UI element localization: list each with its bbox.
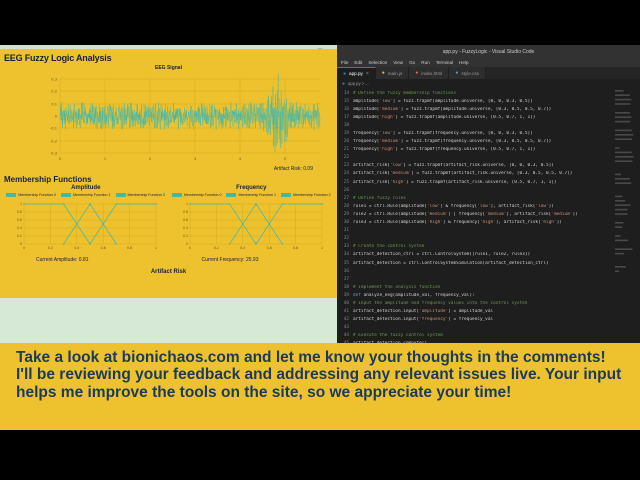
vscode-title: app.py - FuzzyLogic - Visual Studio Code [443,49,535,55]
line-text: # Define the fuzzy membership functions [353,91,456,96]
code-editor[interactable]: 14# Define the fuzzy membership function… [337,88,640,343]
legend-label: Membership Function 2 [293,193,331,197]
artifact-risk-value: Artifact Risk: 0.09 [0,166,337,172]
line-number: 42 [337,317,353,322]
line-number: 23 [337,163,353,168]
css-file-icon: ● [455,70,458,76]
editor-tab-index-html[interactable]: ● index.html [409,67,449,79]
code-line: 27# Define fuzzy rules [337,194,640,202]
legend-item-mf0[interactable]: Membership Function 0 [172,193,222,197]
svg-text:2: 2 [149,157,151,161]
svg-text:0.4: 0.4 [74,246,79,250]
svg-text:3: 3 [194,157,196,161]
line-number: 25 [337,180,353,185]
line-text: # Create the control system [353,244,424,249]
legend-swatch [6,193,16,197]
editor-tab-style-css[interactable]: ● style.css [449,67,486,79]
code-line: 38# Implement the analysis function [337,283,640,291]
menu-file[interactable]: File [341,60,348,65]
menu-view[interactable]: View [393,60,403,65]
svg-text:0.6: 0.6 [182,218,187,222]
svg-text:1: 1 [104,157,106,161]
line-text: frequency['medium'] = fuzz.trapmf(freque… [353,139,551,144]
line-number: 21 [337,147,353,152]
line-number: 17 [337,115,353,120]
line-number: 30 [337,220,353,225]
legend-item-mf1[interactable]: Membership Function 1 [61,193,111,197]
close-icon[interactable]: × [366,71,369,77]
svg-text:0.8: 0.8 [293,246,298,250]
code-line: 16amplitude['medium'] = fuzz.trapmf(ampl… [337,105,640,113]
code-line: 29rule2 = ctrl.Rule(amplitude['medium'] … [337,210,640,218]
amplitude-chart-svg: 00.20.40.60.8100.20.40.60.81 [6,198,161,256]
line-number: 36 [337,269,353,274]
code-line: 26 [337,186,640,194]
line-number: 26 [337,188,353,193]
code-line: 17amplitude['high'] = fuzz.trapmf(amplit… [337,113,640,121]
line-number: 33 [337,244,353,249]
svg-text:1: 1 [320,246,322,250]
menu-go[interactable]: Go [409,60,415,65]
code-line: 37 [337,275,640,283]
line-text: # Execute the fuzzy control system [353,333,443,338]
frequency-legend: Membership Function 0 Membership Functio… [172,193,332,197]
frequency-chart-svg: 00.20.40.60.8100.20.40.60.81 [172,198,327,256]
legend-swatch [172,193,182,197]
svg-text:0.8: 0.8 [17,210,22,214]
amplitude-legend: Membership Function 0 Membership Functio… [6,193,166,197]
legend-item-mf2[interactable]: Membership Function 2 [116,193,166,197]
line-number: 44 [337,333,353,338]
eeg-chart-svg: 0.30.2 0.10 -0.1-0.2 -0.3 012 345 [0,71,337,165]
current-amplitude-value: Current Amplitude: 0.81 [6,257,166,263]
line-number: 22 [337,155,353,160]
editor-minimap[interactable] [614,90,638,340]
vscode-titlebar: app.py - FuzzyLogic - Visual Studio Code [337,45,640,58]
line-number: 24 [337,171,353,176]
menu-run[interactable]: Run [421,60,429,65]
svg-text:-0.3: -0.3 [50,152,57,156]
svg-text:1: 1 [155,246,157,250]
svg-text:0.8: 0.8 [127,246,132,250]
code-line: 44 # Execute the fuzzy control system [337,332,640,340]
line-number: 32 [337,236,353,241]
code-line: 43 [337,324,640,332]
svg-text:4: 4 [239,157,242,161]
line-text: artifact_detection.input['amplitude'] = … [353,309,493,314]
svg-text:-0.1: -0.1 [50,127,57,131]
line-number: 41 [337,309,353,314]
svg-text:1: 1 [20,202,22,206]
vscode-menubar: File Edit Selection View Go Run Terminal… [337,58,640,67]
line-number: 29 [337,212,353,217]
artifact-risk-heading: Artifact Risk [0,269,337,275]
line-text: amplitude['low'] = fuzz.trapmf(amplitude… [353,99,533,104]
editor-tab-label: main.js [388,71,403,76]
editor-tab-label: app.py [349,71,363,76]
svg-text:0.1: 0.1 [51,103,57,107]
legend-item-mf0[interactable]: Membership Function 0 [6,193,56,197]
letterbox-bottom [0,430,640,480]
line-number: 39 [337,293,353,298]
menu-edit[interactable]: Edit [354,60,362,65]
line-number: 34 [337,252,353,257]
svg-text:0: 0 [20,242,22,246]
legend-swatch [61,193,71,197]
line-number: 28 [337,204,353,209]
svg-text:0.2: 0.2 [48,246,53,250]
svg-text:0.6: 0.6 [101,246,106,250]
legend-label: Membership Function 0 [184,193,222,197]
svg-text:0.2: 0.2 [17,234,22,238]
python-file-icon: ● [343,71,346,77]
line-number: 16 [337,107,353,112]
line-text: artifact_risk['high'] = fuzz.trapmf(arti… [353,180,557,185]
svg-text:0.8: 0.8 [182,210,187,214]
code-line: 30rule3 = ctrl.Rule(amplitude['high'] & … [337,219,640,227]
line-number: 43 [337,325,353,330]
code-line: 14# Define the fuzzy membership function… [337,89,640,97]
svg-text:0.4: 0.4 [17,226,22,230]
svg-text:0.4: 0.4 [240,246,245,250]
legend-item-mf2[interactable]: Membership Function 2 [281,193,331,197]
code-line: 33# Create the control system [337,243,640,251]
frequency-chart: Frequency Membership Function 0 Membersh… [172,185,332,263]
vscode-editor-tabs: ● app.py × ● main.js ● index.html ● styl… [337,67,640,79]
svg-text:-0.2: -0.2 [50,140,57,144]
current-frequency-value: Current Frequency: 25.93 [172,257,332,263]
menu-selection[interactable]: Selection [368,60,387,65]
legend-label: Membership Function 2 [128,193,166,197]
line-number: 31 [337,228,353,233]
line-text: amplitude['medium'] = fuzz.trapmf(amplit… [353,107,551,112]
line-number: 27 [337,196,353,201]
code-line: 22 [337,154,640,162]
caption-text: Take a look at bionichaos.com and let me… [16,349,626,401]
code-line: 18 [337,121,640,129]
amplitude-chart-title: Amplitude [6,185,166,191]
letterbox-top [0,0,640,45]
svg-text:0.2: 0.2 [182,234,187,238]
editor-tab-label: index.html [421,71,442,76]
legend-label: Membership Function 1 [73,193,111,197]
page-title: EEG Fuzzy Logic Analysis [0,49,337,65]
line-number: 35 [337,261,353,266]
menu-help[interactable]: Help [459,60,468,65]
caption-banner: Take a look at bionichaos.com and let me… [0,343,640,430]
python-file-icon: ● [342,81,345,87]
eeg-signal-chart: EEG Signal [0,65,337,172]
code-line: 40 # Input the amplitude and frequency v… [337,299,640,307]
html-file-icon: ● [415,70,418,76]
svg-text:0.4: 0.4 [182,226,187,230]
svg-text:0.6: 0.6 [266,246,271,250]
line-number: 14 [337,91,353,96]
code-line: 31 [337,227,640,235]
code-line: 28rule1 = ctrl.Rule(amplitude['low'] & f… [337,202,640,210]
line-number: 15 [337,99,353,104]
breadcrumb-text: app.py > ... [348,81,369,86]
code-line: 34artifact_detection_ctrl = ctrl.Control… [337,251,640,259]
screen-root: ← Bionichaos × EEG Fuzzy Analysi ♪ × Fuz… [0,0,640,480]
code-line: 19frequency['low'] = fuzz.trapmf(frequen… [337,129,640,137]
line-text: artifact_risk['medium'] = fuzz.trapmf(ar… [353,171,572,176]
line-text: frequency['high'] = fuzz.trapmf(frequenc… [353,147,535,152]
code-line: 21frequency['high'] = fuzz.trapmf(freque… [337,146,640,154]
code-lines: 14# Define the fuzzy membership function… [337,89,640,343]
line-text: # Input the amplitude and frequency valu… [353,301,527,306]
membership-functions-title: Membership Functions [0,172,337,185]
code-line: 24artifact_risk['medium'] = fuzz.trapmf(… [337,170,640,178]
code-line: 35artifact_detection = ctrl.ControlSyste… [337,259,640,267]
breadcrumb[interactable]: ● app.py > ... [337,79,640,88]
svg-text:0.3: 0.3 [51,78,57,82]
line-number: 38 [337,285,353,290]
svg-text:0: 0 [55,115,58,119]
line-text: frequency['low'] = fuzz.trapmf(frequency… [353,131,533,136]
code-line: 41 artifact_detection.input['amplitude']… [337,308,640,316]
svg-text:5: 5 [284,157,286,161]
line-number: 40 [337,301,353,306]
legend-label: Membership Function 0 [18,193,56,197]
line-number: 18 [337,123,353,128]
line-text: artifact_detection = ctrl.ControlSystemS… [353,261,549,266]
line-text: # Define fuzzy rules [353,196,406,201]
svg-text:0: 0 [59,157,62,161]
line-text: rule3 = ctrl.Rule(amplitude['high'] & fr… [353,220,562,225]
editor-tab-app-py[interactable]: ● app.py × [337,67,376,79]
editor-tab-label: style.css [461,71,479,76]
legend-label: Membership Function 1 [238,193,276,197]
line-text: # Implement the analysis function [353,285,440,290]
line-number: 19 [337,131,353,136]
web-page-content: EEG Fuzzy Logic Analysis EEG Signal [0,49,337,298]
line-text: rule1 = ctrl.Rule(amplitude['low'] & fre… [353,204,554,209]
line-number: 20 [337,139,353,144]
line-text: artifact_risk['low'] = fuzz.trapmf(artif… [353,163,554,168]
legend-swatch [226,193,236,197]
code-line: 25artifact_risk['high'] = fuzz.trapmf(ar… [337,178,640,186]
frequency-chart-title: Frequency [172,185,332,191]
line-text: artifact_detection.input['frequency'] = … [353,317,493,322]
code-line: 15amplitude['low'] = fuzz.trapmf(amplitu… [337,97,640,105]
code-line: 20frequency['medium'] = fuzz.trapmf(freq… [337,138,640,146]
code-line: 23artifact_risk['low'] = fuzz.trapmf(art… [337,162,640,170]
legend-swatch [116,193,126,197]
line-number: 37 [337,277,353,282]
legend-item-mf1[interactable]: Membership Function 1 [226,193,276,197]
code-line: 42 artifact_detection.input['frequency']… [337,316,640,324]
code-line: 32 [337,235,640,243]
svg-text:0.2: 0.2 [51,90,57,94]
code-line: 36 [337,267,640,275]
line-text: amplitude['high'] = fuzz.trapmf(amplitud… [353,115,535,120]
svg-text:0: 0 [23,246,25,250]
menu-terminal[interactable]: Terminal [436,60,453,65]
editor-tab-main-js[interactable]: ● main.js [376,67,410,79]
membership-charts-grid: Amplitude Membership Function 0 Membersh… [0,185,337,263]
code-line: 39def analyze_eeg(amplitude_val, frequen… [337,291,640,299]
javascript-file-icon: ● [382,70,385,76]
legend-swatch [281,193,291,197]
line-text: def analyze_eeg(amplitude_val, frequency… [353,293,475,298]
line-text: artifact_detection_ctrl = ctrl.ControlSy… [353,252,530,257]
vscode-window: app.py - FuzzyLogic - Visual Studio Code… [337,45,640,343]
svg-text:0: 0 [188,246,190,250]
svg-text:0.6: 0.6 [17,218,22,222]
line-text: rule2 = ctrl.Rule(amplitude['medium'] | … [353,212,578,217]
amplitude-chart: Amplitude Membership Function 0 Membersh… [6,185,166,263]
svg-text:0.2: 0.2 [213,246,218,250]
svg-text:0: 0 [185,242,187,246]
svg-text:1: 1 [185,202,187,206]
